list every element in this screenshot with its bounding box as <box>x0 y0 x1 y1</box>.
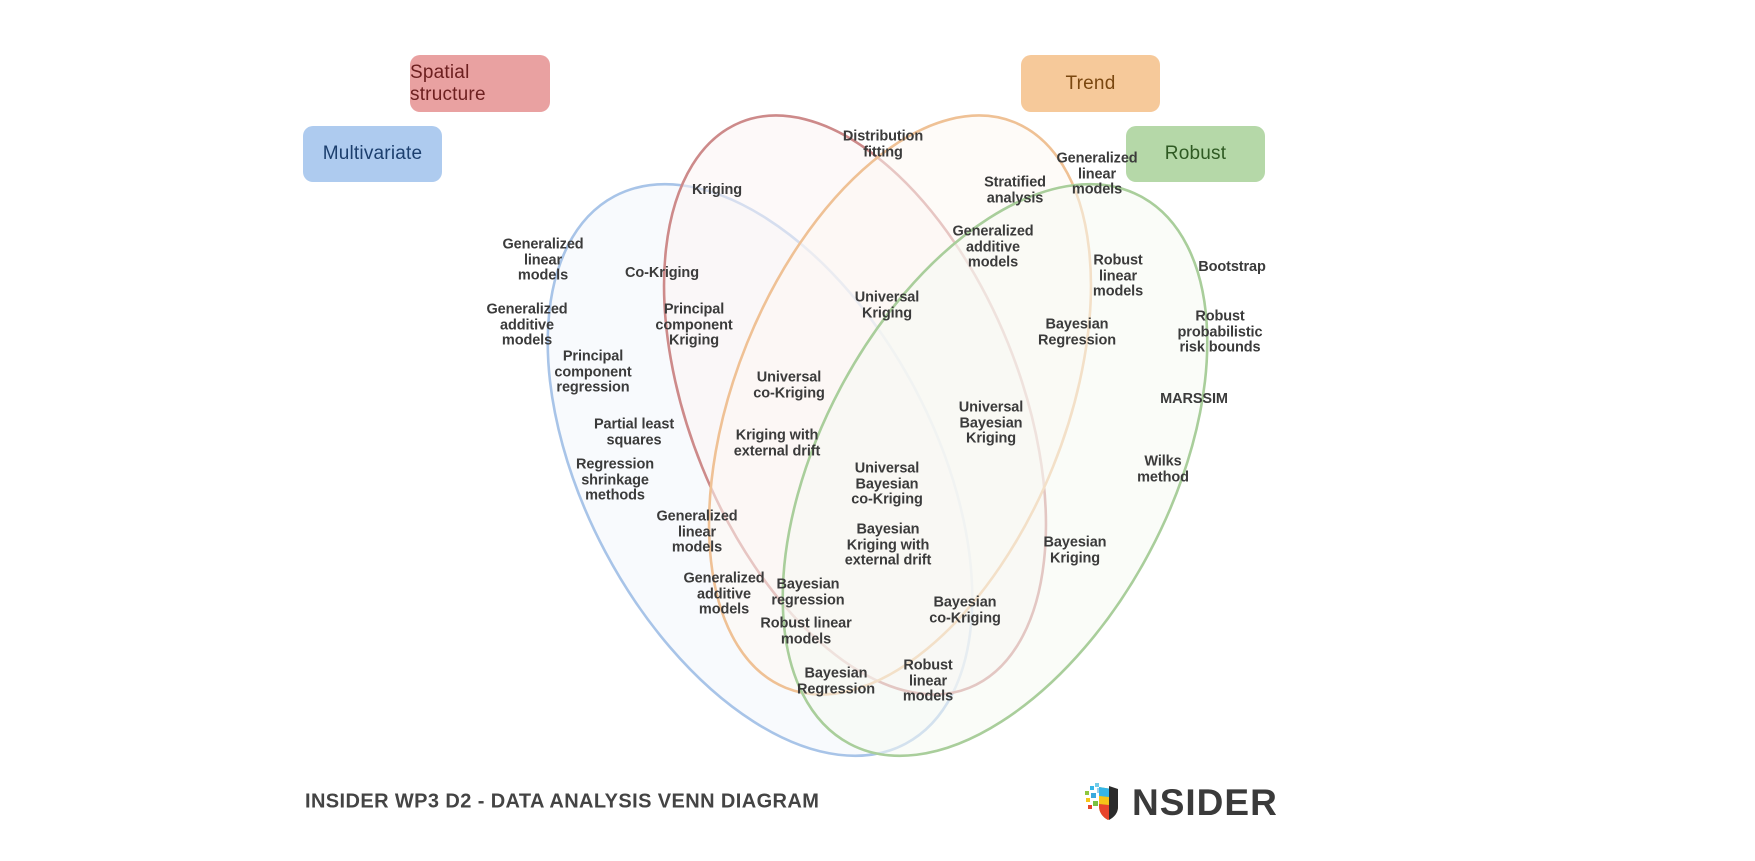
venn-item-label: Robust linear models <box>760 616 851 647</box>
venn-item-label: Kriging <box>692 183 742 199</box>
venn-item-label: Robust probabilistic risk bounds <box>1178 310 1263 357</box>
venn-item-label: Bayesian regression <box>771 577 844 608</box>
category-chip-trend[interactable]: Trend <box>1021 55 1160 112</box>
venn-item-label: Generalized linear models <box>656 510 737 557</box>
venn-item-label: Regression shrinkage methods <box>576 458 654 505</box>
category-chip-spatial-structure[interactable]: Spatial structure <box>410 55 550 112</box>
venn-item-label: Universal Bayesian Kriging <box>959 401 1023 448</box>
venn-item-label: Partial least squares <box>594 417 674 448</box>
venn-item-label: Principal component regression <box>554 350 631 397</box>
venn-item-label: Generalized additive models <box>683 572 764 619</box>
venn-item-label: Bayesian Kriging <box>1044 535 1107 566</box>
venn-item-label: Generalized additive models <box>952 225 1033 272</box>
venn-item-label: Principal component Kriging <box>655 303 732 350</box>
insider-logo: NSIDER <box>1084 782 1278 822</box>
venn-item-label: Bootstrap <box>1198 260 1266 276</box>
venn-item-label: Co-Kriging <box>625 266 699 282</box>
venn-item-label: Bayesian Regression <box>797 666 875 697</box>
venn-item-label: Bayesian Regression <box>1038 317 1116 348</box>
venn-diagram-canvas: Spatial structure Multivariate Trend Rob… <box>0 0 1755 861</box>
venn-item-label: Stratified analysis <box>984 175 1046 206</box>
insider-logo-word: NSIDER <box>1132 784 1278 821</box>
venn-item-label: Generalized additive models <box>486 303 567 350</box>
venn-item-label: Universal co-Kriging <box>753 370 825 401</box>
venn-item-label: Bayesian co-Kriging <box>929 595 1001 626</box>
venn-item-label: Kriging with external drift <box>734 428 820 459</box>
venn-item-label: Robust linear models <box>1093 254 1143 301</box>
venn-item-label: Bayesian Kriging with external drift <box>845 523 931 570</box>
venn-item-label: Robust linear models <box>903 659 953 706</box>
insider-logo-mark <box>1084 782 1130 822</box>
category-chip-robust[interactable]: Robust <box>1126 126 1265 182</box>
category-chip-label: Trend <box>1066 73 1116 95</box>
venn-item-label: Generalized linear models <box>502 238 583 285</box>
venn-item-label: Wilks method <box>1137 454 1189 485</box>
venn-item-label: Universal Kriging <box>855 290 919 321</box>
footer-title: INSIDER WP3 D2 - DATA ANALYSIS VENN DIAG… <box>305 791 819 814</box>
category-chip-label: Spatial structure <box>410 62 550 106</box>
venn-item-label: MARSSIM <box>1160 392 1228 408</box>
category-chip-label: Multivariate <box>323 143 423 165</box>
venn-item-label: Universal Bayesian co-Kriging <box>851 462 923 509</box>
venn-item-label: Distribution fitting <box>843 129 923 160</box>
category-chip-multivariate[interactable]: Multivariate <box>303 126 442 182</box>
category-chip-label: Robust <box>1165 143 1226 165</box>
venn-item-label: Generalized linear models <box>1056 152 1137 199</box>
